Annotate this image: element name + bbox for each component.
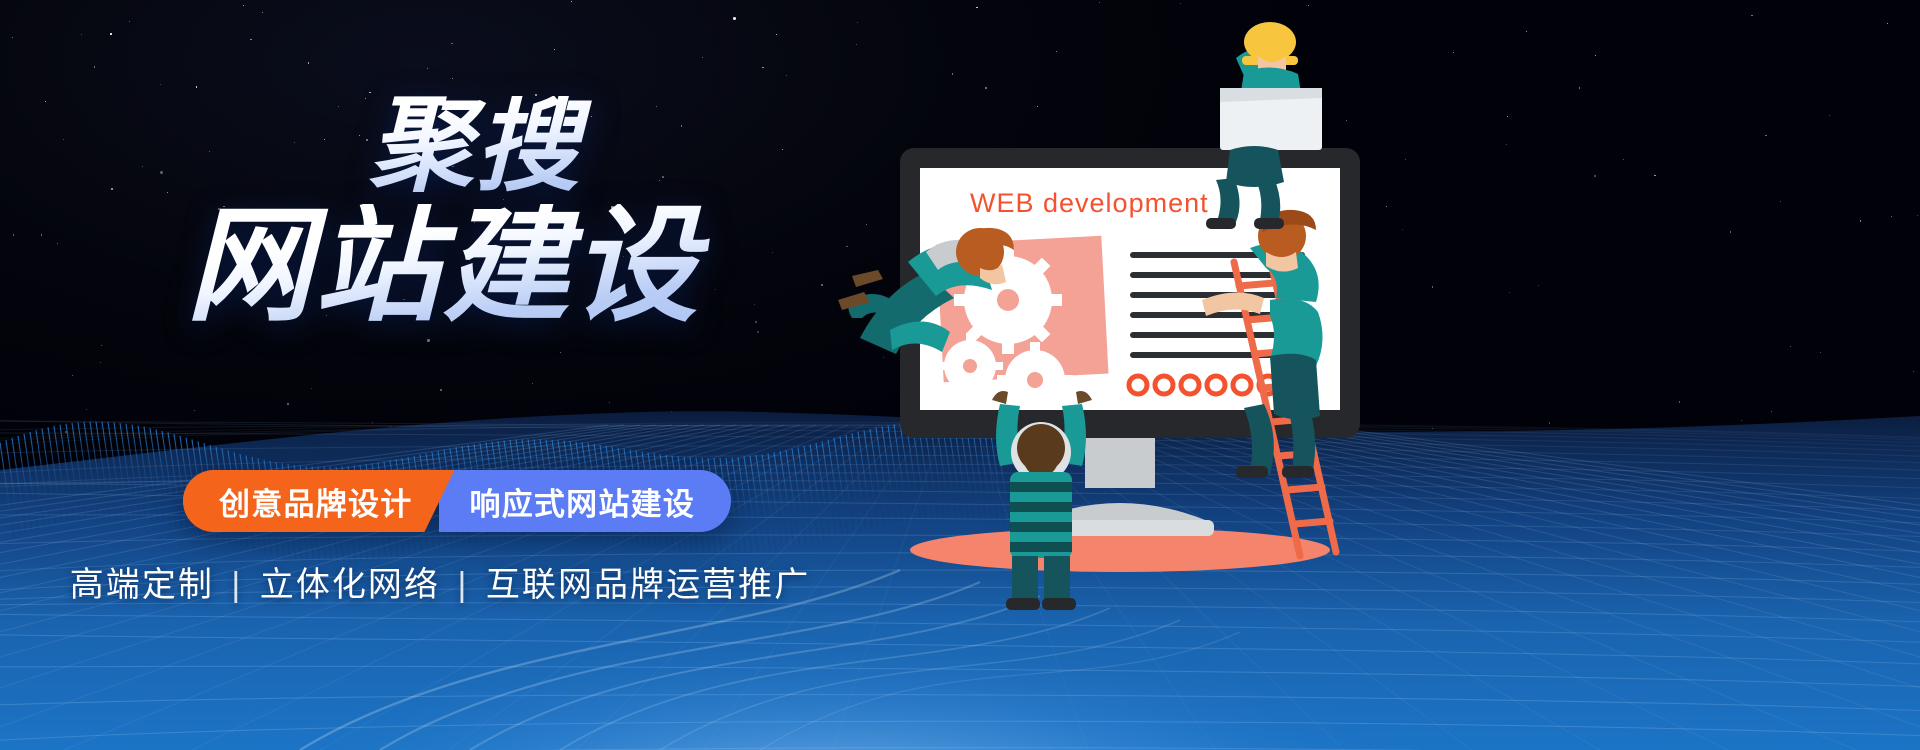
figure-child-front [992, 391, 1092, 610]
tagline-item-2: 立体化网络 [260, 566, 440, 604]
headline-line-2: 网站建设 [0, 204, 880, 327]
tagline: 高端定制 | 立体化网络 | 互联网品牌运营推广 [0, 557, 880, 606]
badge-primary[interactable]: 创意品牌设计 [183, 470, 454, 532]
tagline-item-3: 互联网品牌运营推广 [486, 566, 810, 604]
monitor-stand [1085, 438, 1155, 488]
headline-group: 聚搜 网站建设 [0, 96, 880, 327]
web-development-illustration: WEB development [830, 0, 1470, 750]
service-badge: 创意品牌设计 响应式网站建设 [183, 470, 731, 532]
badge-secondary[interactable]: 响应式网站建设 [439, 470, 731, 532]
screen-heading: WEB development [970, 188, 1209, 218]
tagline-separator-1: | [225, 566, 248, 604]
left-copy-block: 聚搜 网站建设 创意品牌设计 响应式网站建设 高端定制 | 立体化网络 | 互联… [0, 0, 880, 750]
tagline-separator-2: | [452, 566, 475, 604]
headline-line-1: 聚搜 [0, 96, 880, 198]
tagline-item-1: 高端定制 [70, 566, 214, 604]
banner-root: 聚搜 网站建设 创意品牌设计 响应式网站建设 高端定制 | 立体化网络 | 互联… [0, 0, 1920, 750]
